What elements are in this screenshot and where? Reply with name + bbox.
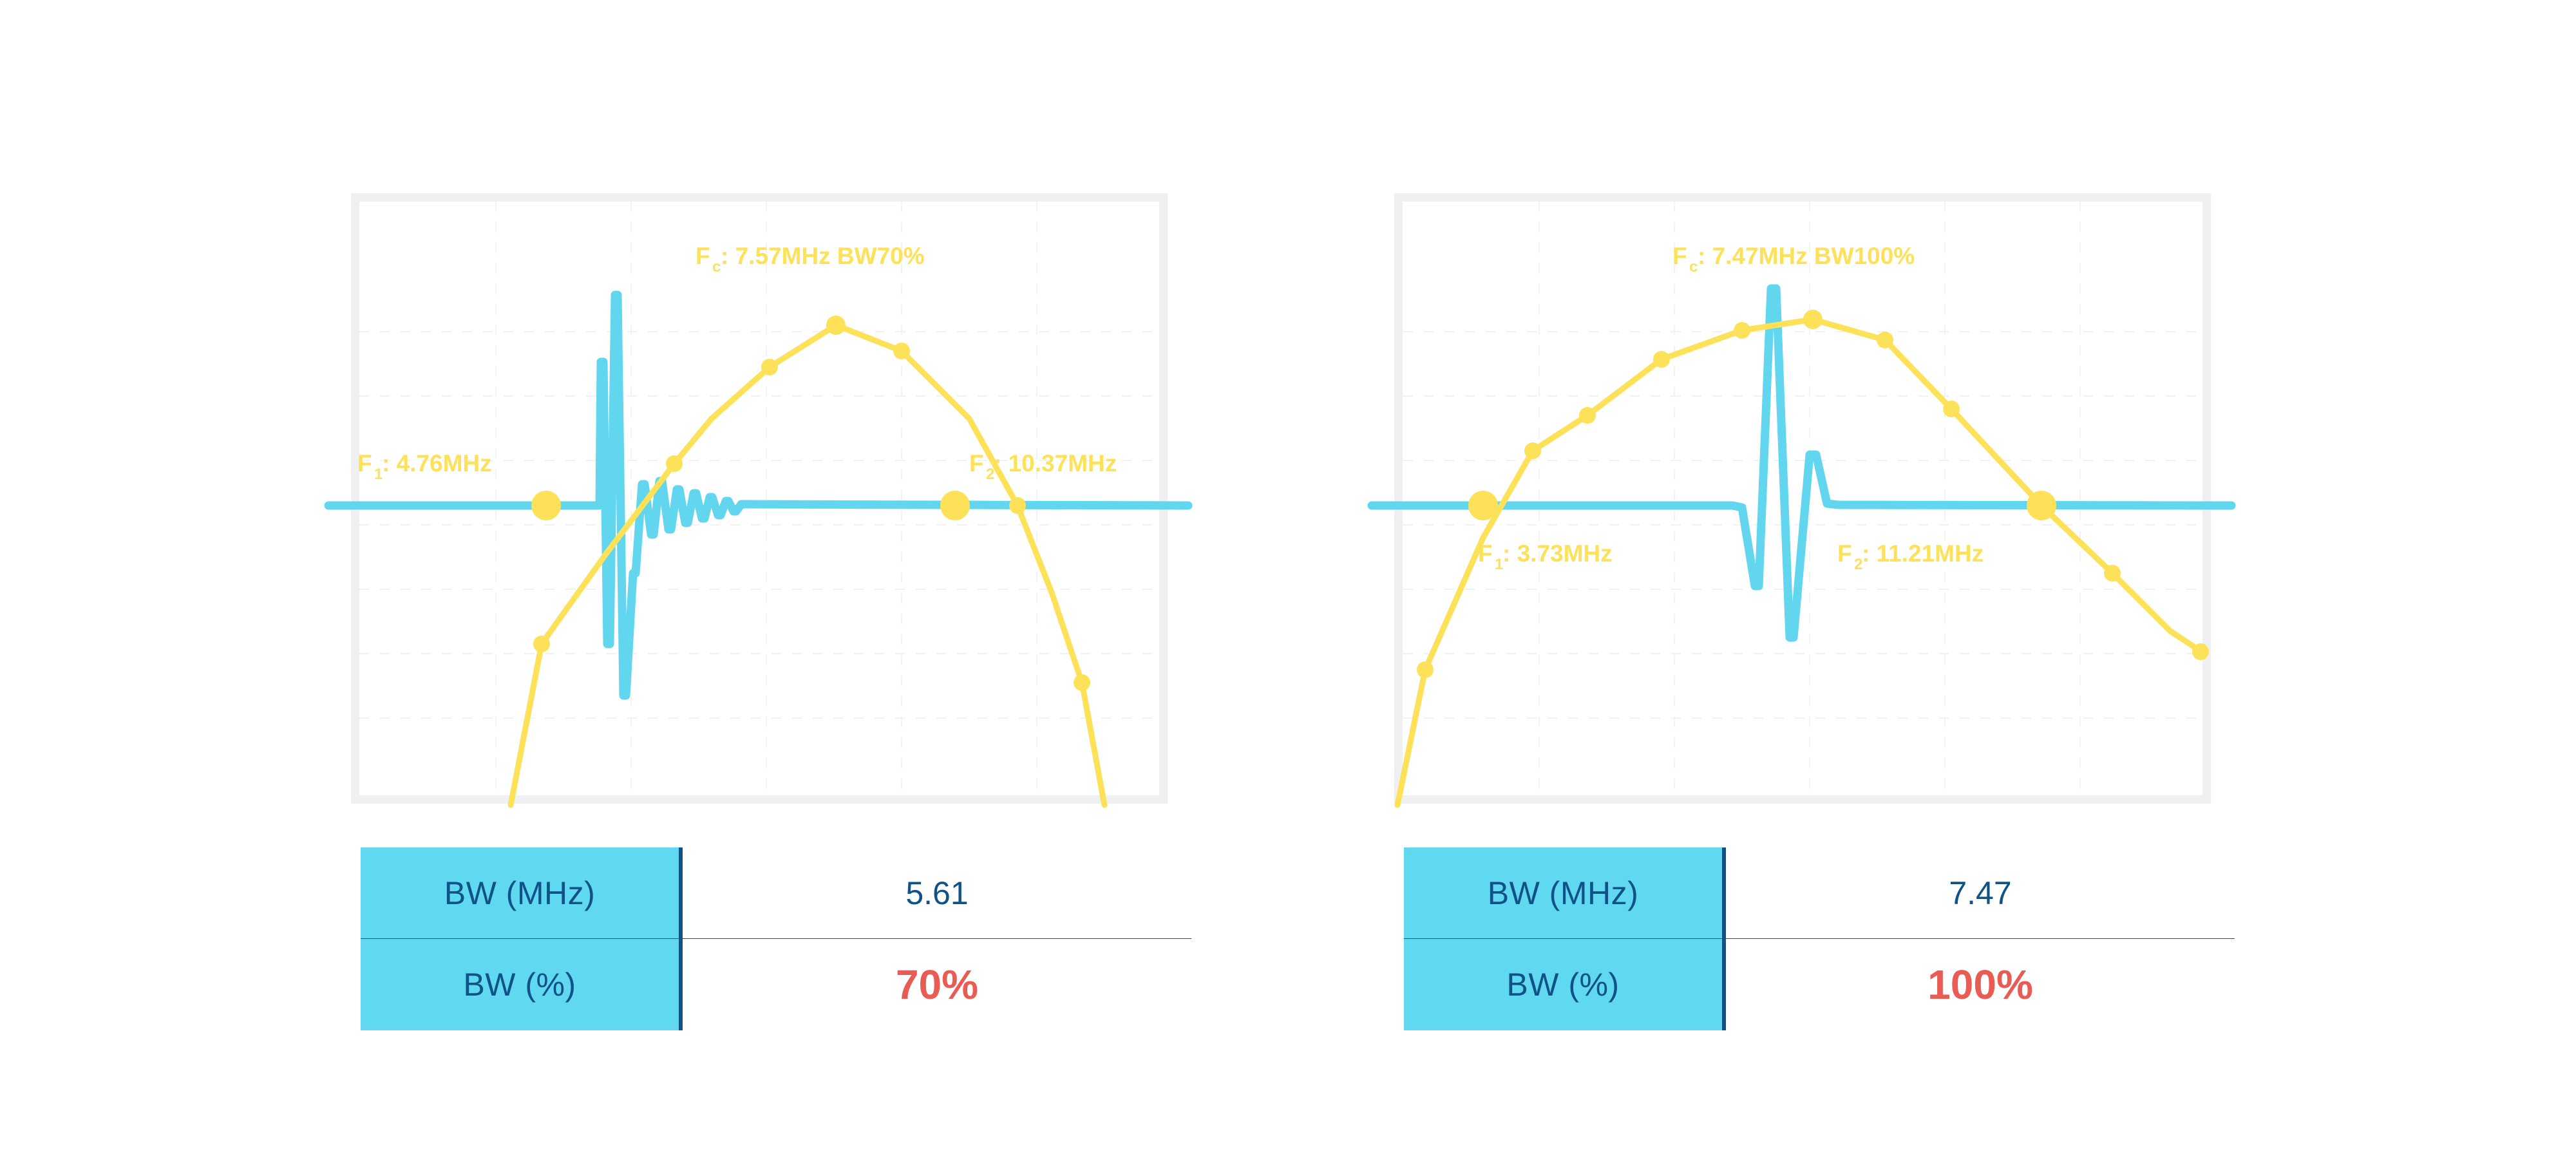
label-f1-text: : 3.73MHz — [1502, 540, 1613, 567]
table-value-bw-pct: 100% — [1726, 939, 2235, 1030]
bw-table-left: BW (MHz) 5.61 BW (%) 70% — [361, 847, 1191, 1030]
data-point — [761, 359, 778, 375]
label-fc-text: : 7.57MHz BW70% — [721, 243, 925, 269]
table-value-bw-mhz: 5.61 — [683, 847, 1191, 939]
pulse-trace-left — [328, 295, 1188, 695]
figure-canvas: F c : 7.57MHz BW70% F 1 : 4.76MHz F 2 : … — [0, 0, 2576, 1154]
data-point — [1653, 351, 1670, 368]
label-fc-prefix: F — [1672, 243, 1687, 269]
label-f2-prefix: F — [969, 450, 984, 477]
data-point — [666, 455, 683, 472]
table-row: BW (%) 100% — [1404, 939, 2235, 1030]
label-f1-text: : 4.76MHz — [382, 450, 492, 477]
pulse-trace-right — [1372, 288, 2231, 638]
marker-f1 — [1468, 491, 1498, 520]
table-row: BW (MHz) 5.61 — [361, 847, 1191, 939]
data-point — [1417, 661, 1434, 678]
data-point — [2192, 643, 2209, 660]
label-fc-right: F c : 7.47MHz BW100% — [1672, 243, 1915, 276]
label-f2-right: F 2 : 11.21MHz — [1837, 540, 1984, 573]
label-f1-right: F 1 : 3.73MHz — [1478, 540, 1613, 573]
table-header-bw-pct: BW (%) — [1404, 939, 1726, 1030]
marker-f2 — [940, 491, 970, 520]
data-point — [1734, 322, 1750, 339]
data-point — [1074, 674, 1090, 691]
data-point — [1524, 442, 1541, 459]
label-f1-prefix: F — [357, 450, 372, 477]
label-fc-prefix: F — [696, 243, 710, 269]
label-f2-text: : 10.37MHz — [994, 450, 1117, 477]
data-point-fc — [826, 316, 846, 335]
label-f1-left: F 1 : 4.76MHz — [357, 450, 492, 483]
table-row: BW (%) 70% — [361, 939, 1191, 1030]
data-point — [1877, 332, 1893, 348]
table-value-bw-pct: 70% — [683, 939, 1191, 1030]
label-f2-prefix: F — [1837, 540, 1852, 567]
data-point — [893, 343, 910, 359]
data-point — [533, 636, 550, 652]
label-fc-left: F c : 7.57MHz BW70% — [696, 243, 925, 276]
chart-left: F c : 7.57MHz BW70% F 1 : 4.76MHz F 2 : … — [351, 193, 1168, 804]
panel-right: F c : 7.47MHz BW100% F 1 : 3.73MHz F 2 :… — [1394, 193, 2211, 804]
label-f2-text: : 11.21MHz — [1862, 540, 1984, 567]
grid-lines-left — [359, 202, 1159, 795]
chart-frame-right: F c : 7.47MHz BW100% F 1 : 3.73MHz F 2 :… — [1394, 193, 2211, 804]
chart-frame-left: F c : 7.57MHz BW70% F 1 : 4.76MHz F 2 : … — [351, 193, 1168, 804]
data-point — [1943, 401, 1960, 417]
data-point-fc — [1803, 310, 1823, 329]
panel-left: F c : 7.57MHz BW70% F 1 : 4.76MHz F 2 : … — [351, 193, 1168, 804]
table-header-bw-mhz: BW (MHz) — [1404, 847, 1726, 939]
table-value-bw-mhz: 7.47 — [1726, 847, 2235, 939]
table-row: BW (MHz) 7.47 — [1404, 847, 2235, 939]
bw-table-right: BW (MHz) 7.47 BW (%) 100% — [1404, 847, 2235, 1030]
marker-f1 — [531, 491, 561, 520]
table-header-bw-pct: BW (%) — [361, 939, 683, 1030]
data-point — [2104, 565, 2121, 582]
chart-right: F c : 7.47MHz BW100% F 1 : 3.73MHz F 2 :… — [1394, 193, 2211, 804]
data-point — [1009, 497, 1026, 514]
data-point — [1579, 407, 1596, 424]
label-fc-sub: c — [1689, 258, 1698, 276]
label-fc-text: : 7.47MHz BW100% — [1698, 243, 1915, 269]
marker-f2 — [2027, 491, 2056, 520]
label-fc-sub: c — [712, 258, 721, 276]
label-f1-prefix: F — [1478, 540, 1493, 567]
table-header-bw-mhz: BW (MHz) — [361, 847, 683, 939]
